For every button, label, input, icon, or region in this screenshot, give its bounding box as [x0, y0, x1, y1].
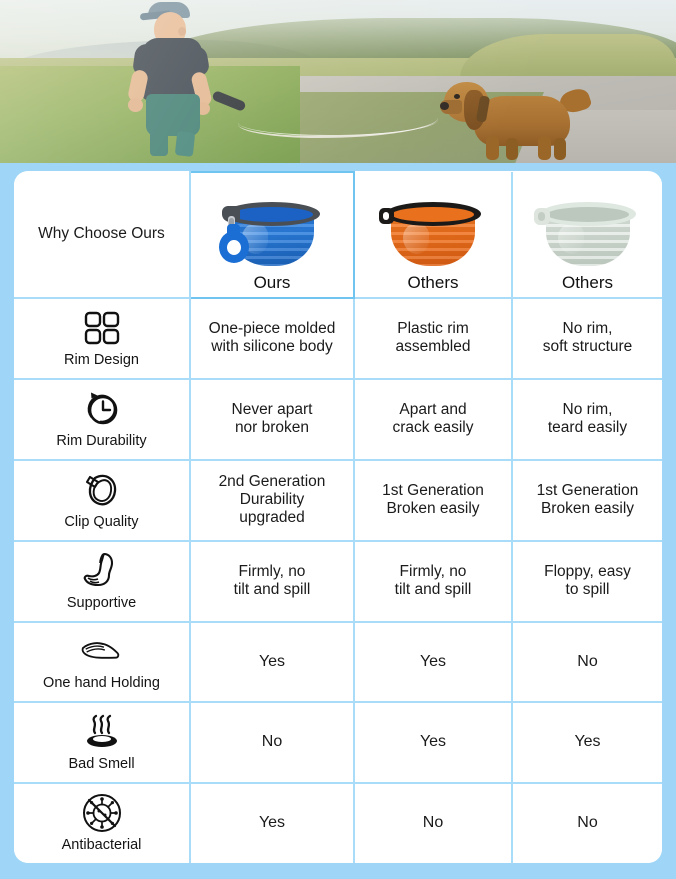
table-row: Antibacterial Yes No No — [14, 783, 662, 863]
open-hand-icon — [79, 631, 125, 671]
cell-line-1: 1st Generation — [517, 482, 658, 500]
feature-cell-bad-smell: Bad Smell — [14, 702, 190, 783]
steam-smell-icon — [79, 712, 125, 752]
cell-ours-bad-smell: No — [190, 702, 354, 783]
feature-label: Supportive — [67, 595, 136, 612]
cell-line-1: Plastic rim — [359, 320, 507, 338]
cell-ours-clip-quality: 2nd Generation Durability upgraded — [190, 460, 354, 541]
table-row: Supportive Firmly, no tilt and spill Fir… — [14, 541, 662, 622]
header-column-others-2: Others — [512, 172, 662, 298]
cell-line-1: Floppy, easy — [517, 563, 658, 581]
table-row: Rim Durability Never apart nor broken Ap… — [14, 379, 662, 460]
bowl-highlight — [558, 224, 584, 254]
table-header-row: Why Choose Ours — [14, 172, 662, 298]
flexed-bicep-icon — [79, 551, 125, 591]
cell-line-2: with silicone body — [195, 338, 349, 356]
cell-line-1: Apart and — [359, 401, 507, 419]
cell-line-1: Never apart — [195, 401, 349, 419]
orange-collapsible-bowl-icon — [379, 198, 487, 272]
cell-others1-bad-smell: Yes — [354, 702, 512, 783]
header-column-ours: Ours — [190, 172, 354, 298]
cell-others2-supportive: Floppy, easy to spill — [512, 541, 662, 622]
cell-others2-rim-durability: No rim, teard easily — [512, 379, 662, 460]
feature-label: Clip Quality — [64, 514, 138, 531]
feature-cell-clip-quality: Clip Quality — [14, 460, 190, 541]
cell-others2-bad-smell: Yes — [512, 702, 662, 783]
header-label-ours: Ours — [254, 273, 291, 293]
feature-cell-supportive: Supportive — [14, 541, 190, 622]
clock-history-icon — [79, 389, 125, 429]
cell-others1-antibacterial: No — [354, 783, 512, 863]
header-label-others-1: Others — [407, 273, 458, 293]
cell-line-2: tilt and spill — [359, 581, 507, 599]
header-label-others-2: Others — [562, 273, 613, 293]
feature-cell-antibacterial: Antibacterial — [14, 783, 190, 863]
table-row: One hand Holding Yes Yes No — [14, 622, 662, 703]
cell-others2-antibacterial: No — [512, 783, 662, 863]
cell-others1-supportive: Firmly, no tilt and spill — [354, 541, 512, 622]
cell-others1-rim-design: Plastic rim assembled — [354, 298, 512, 379]
cell-line-2: assembled — [359, 338, 507, 356]
cell-line-1: No rim, — [517, 401, 658, 419]
sun-haze-overlay — [0, 0, 676, 163]
cell-line-2: tilt and spill — [195, 581, 349, 599]
blue-collapsible-bowl-with-carabiner-icon — [218, 198, 326, 272]
clip-ring — [219, 231, 249, 263]
cell-line-2: teard easily — [517, 419, 658, 437]
cell-line-1: 1st Generation — [359, 482, 507, 500]
bowl-tab-handle — [379, 208, 394, 224]
cell-ours-supportive: Firmly, no tilt and spill — [190, 541, 354, 622]
feature-cell-rim-design: Rim Design — [14, 298, 190, 379]
feature-label: Rim Design — [64, 352, 139, 369]
cell-others1-clip-quality: 1st Generation Broken easily — [354, 460, 512, 541]
cell-ours-rim-design: One-piece molded with silicone body — [190, 298, 354, 379]
carabiner-clip-icon — [79, 470, 125, 510]
feature-label: Bad Smell — [68, 756, 134, 773]
cell-line-2: soft structure — [517, 338, 658, 356]
cell-line-1: Firmly, no — [359, 563, 507, 581]
bowl-rim-inner — [231, 207, 313, 222]
bowl-highlight — [403, 224, 429, 254]
feature-label: Antibacterial — [62, 837, 142, 854]
bowl-rim-inner — [392, 207, 474, 222]
cell-line-3: upgraded — [195, 509, 349, 527]
table-row: Clip Quality 2nd Generation Durability u… — [14, 460, 662, 541]
feature-label: One hand Holding — [43, 675, 160, 692]
cell-line-2: nor broken — [195, 419, 349, 437]
cell-line-2: to spill — [517, 581, 658, 599]
grey-collapsible-bowl-icon — [534, 198, 642, 272]
cell-line-2: Durability — [195, 491, 349, 509]
feature-cell-one-hand-holding: One hand Holding — [14, 622, 190, 703]
cell-ours-antibacterial: Yes — [190, 783, 354, 863]
feature-label: Rim Durability — [56, 433, 146, 450]
cell-line-2: crack easily — [359, 419, 507, 437]
cell-line-1: One-piece molded — [195, 320, 349, 338]
cell-others1-rim-durability: Apart and crack easily — [354, 379, 512, 460]
table-row: Rim Design One-piece molded with silicon… — [14, 298, 662, 379]
comparison-table-card: Why Choose Ours — [14, 171, 662, 863]
cell-others2-one-hand-holding: No — [512, 622, 662, 703]
page-title: Why Choose Ours — [38, 225, 165, 242]
header-column-others-1: Others — [354, 172, 512, 298]
table-row: Bad Smell No Yes Yes — [14, 702, 662, 783]
no-germs-icon — [79, 793, 125, 833]
cell-others2-rim-design: No rim, soft structure — [512, 298, 662, 379]
header-why-choose-ours-cell: Why Choose Ours — [14, 172, 190, 298]
hero-lifestyle-photo — [0, 0, 676, 163]
cell-ours-one-hand-holding: Yes — [190, 622, 354, 703]
cell-line-2: Broken easily — [517, 500, 658, 518]
cell-line-1: No rim, — [517, 320, 658, 338]
cell-others2-clip-quality: 1st Generation Broken easily — [512, 460, 662, 541]
bowl-tab-handle — [534, 208, 550, 225]
cell-line-2: Broken easily — [359, 500, 507, 518]
product-comparison-infographic: Why Choose Ours — [0, 0, 676, 879]
feature-cell-rim-durability: Rim Durability — [14, 379, 190, 460]
cell-ours-rim-durability: Never apart nor broken — [190, 379, 354, 460]
cell-others1-one-hand-holding: Yes — [354, 622, 512, 703]
cell-line-1: 2nd Generation — [195, 473, 349, 491]
grid-squares-icon — [79, 308, 125, 348]
bowl-rim-inner — [547, 207, 629, 222]
cell-line-1: Firmly, no — [195, 563, 349, 581]
comparison-table: Why Choose Ours — [14, 171, 662, 863]
